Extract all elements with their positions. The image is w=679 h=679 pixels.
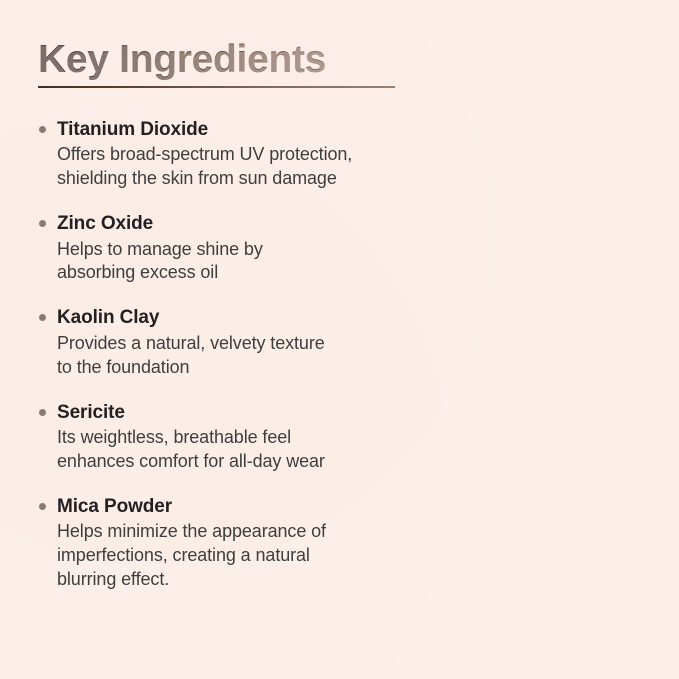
page-title-block: Key Ingredients [38,40,438,88]
list-item: Mica Powder Helps minimize the appearanc… [35,495,455,592]
list-item: Kaolin Clay Provides a natural, velvety … [35,306,455,379]
text-column: Key Ingredients Titanium Dioxide Offers … [0,0,470,679]
ingredients-infographic: Key Ingredients Titanium Dioxide Offers … [0,0,679,679]
ingredient-list: Titanium Dioxide Offers broad-spectrum U… [35,118,455,592]
ingredient-description: Provides a natural, velvety texture to t… [57,332,455,380]
title-underline [38,86,395,88]
bullet-icon [39,409,46,416]
bullet-icon [39,503,46,510]
ingredient-name: Mica Powder [57,495,455,519]
list-item: Zinc Oxide Helps to manage shine by abso… [35,212,455,285]
ingredient-name: Kaolin Clay [57,306,455,330]
bullet-icon [39,220,46,227]
page-title: Key Ingredients [38,40,438,81]
list-item: Titanium Dioxide Offers broad-spectrum U… [35,118,455,191]
ingredient-description: Helps minimize the appearance of imperfe… [57,520,455,592]
bullet-icon [39,126,46,133]
bullet-icon [39,314,46,321]
ingredient-description: Its weightless, breathable feel enhances… [57,426,455,474]
ingredient-name: Zinc Oxide [57,212,455,236]
list-item: Sericite Its weightless, breathable feel… [35,401,455,474]
powder-swatch-svg [479,0,679,679]
ingredient-name: Titanium Dioxide [57,118,455,142]
ingredient-description: Helps to manage shine by absorbing exces… [57,238,455,286]
ingredient-description: Offers broad-spectrum UV protection, shi… [57,143,455,191]
ingredient-name: Sericite [57,401,455,425]
powder-swatch-image [479,0,679,679]
